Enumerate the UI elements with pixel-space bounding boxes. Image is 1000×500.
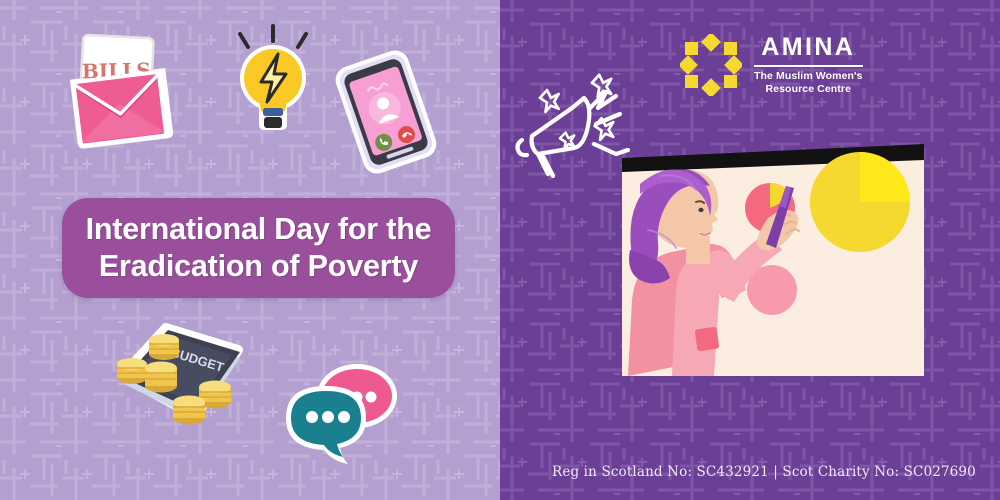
logo-subtitle-line-1: The Muslim Women's xyxy=(754,70,863,83)
logo-divider xyxy=(754,65,863,67)
bills-envelope-icon: BILLS xyxy=(58,34,178,149)
chat-bubble-teal xyxy=(286,386,366,464)
title-line-2: Eradication of Poverty xyxy=(86,248,432,285)
woman-presenting-charts-illustration xyxy=(500,140,1000,390)
logo-subtitle: The Muslim Women's Resource Centre xyxy=(754,70,863,96)
logo-text-block: AMINA The Muslim Women's Resource Centre xyxy=(754,35,863,96)
chat-bubbles-icon xyxy=(278,358,402,464)
poster-canvas: BILLS xyxy=(0,0,1000,500)
incoming-call-phone-icon xyxy=(330,52,442,172)
logo-subtitle-line-2: Resource Centre xyxy=(754,83,863,96)
footer-registration-text: Reg in Scotland No: SC432921 | Scot Char… xyxy=(552,464,976,480)
amina-logo: AMINA The Muslim Women's Resource Centre xyxy=(680,34,863,96)
octagon-diamond-logo-icon xyxy=(680,34,742,96)
title-line-1: International Day for the xyxy=(86,211,432,248)
title-badge: International Day for the Eradication of… xyxy=(62,198,455,298)
eye xyxy=(698,208,703,212)
logo-name: AMINA xyxy=(761,35,855,63)
page-title: International Day for the Eradication of… xyxy=(72,211,446,285)
lightbulb-bolt-icon xyxy=(228,22,318,140)
budget-book-coins-icon: BUDGET xyxy=(104,312,254,430)
large-pie-chart xyxy=(810,152,910,252)
